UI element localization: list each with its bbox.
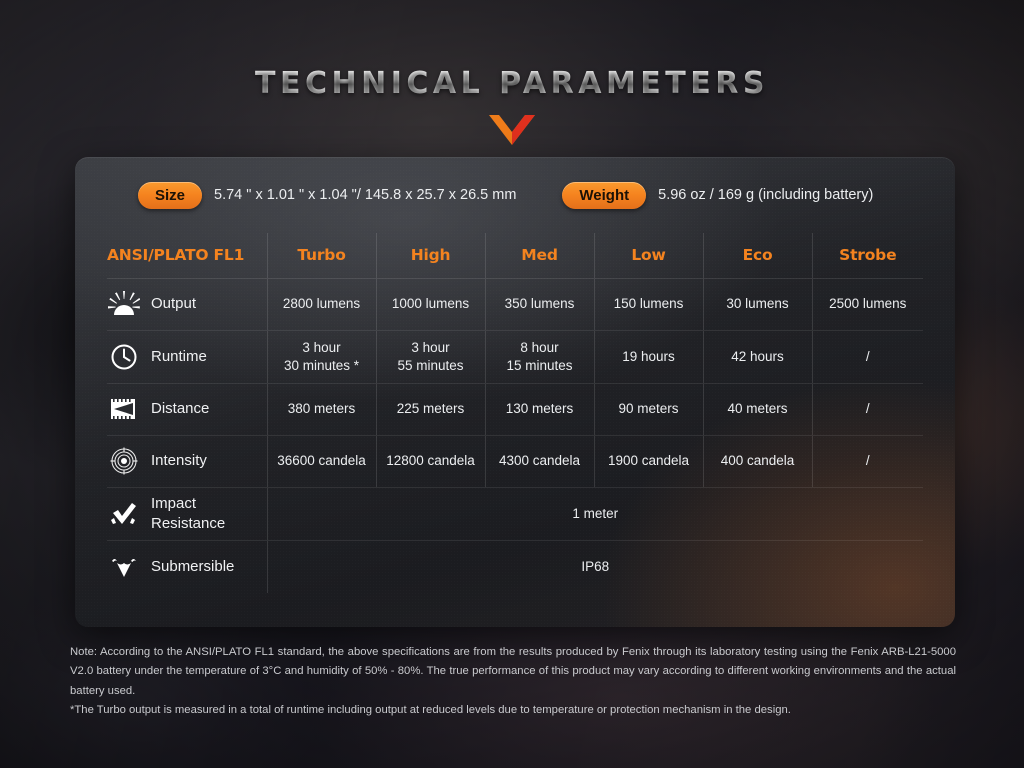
column-header-turbo: Turbo — [267, 233, 376, 278]
row-label: Distance — [151, 399, 209, 419]
cell-runtime-med: 8 hour 15 minutes — [485, 330, 594, 383]
cell-runtime-turbo: 3 hour 30 minutes * — [267, 330, 376, 383]
row-label-cell: Submersible — [107, 540, 267, 593]
runtime-line1: 8 hour — [486, 339, 594, 357]
size-group: Size 5.74 " x 1.01 " x 1.04 "/ 145.8 x 2… — [138, 182, 516, 209]
table-row-submersible: Submersible IP68 — [107, 540, 923, 593]
cell-runtime-low: 19 hours — [594, 330, 703, 383]
cell-runtime-strobe: / — [812, 330, 923, 383]
row-label-cell: Impact Resistance — [107, 487, 267, 540]
table-row-runtime: Runtime 3 hour 30 minutes * 3 hour 55 mi… — [107, 330, 923, 383]
row-label: Output — [151, 294, 196, 314]
cell-distance-low: 90 meters — [594, 383, 703, 435]
cell-distance-med: 130 meters — [485, 383, 594, 435]
cell-intensity-strobe: / — [812, 435, 923, 487]
cell-intensity-high: 12800 candela — [376, 435, 485, 487]
table-row-output: Output 2800 lumens 1000 lumens 350 lumen… — [107, 278, 923, 330]
row-label: Impact Resistance — [151, 494, 267, 534]
cell-output-low: 150 lumens — [594, 278, 703, 330]
row-label-cell: Runtime — [107, 330, 267, 383]
cell-distance-high: 225 meters — [376, 383, 485, 435]
cell-output-med: 350 lumens — [485, 278, 594, 330]
footnote: Note: According to the ANSI/PLATO FL1 st… — [70, 643, 956, 721]
cell-runtime-high: 3 hour 55 minutes — [376, 330, 485, 383]
cell-output-turbo: 2800 lumens — [267, 278, 376, 330]
cell-distance-eco: 40 meters — [703, 383, 812, 435]
clock-icon — [107, 343, 141, 371]
cell-intensity-med: 4300 candela — [485, 435, 594, 487]
specifications-table: ANSI/PLATO FL1 Turbo High Med Low Eco St… — [107, 233, 923, 593]
size-value: 5.74 " x 1.01 " x 1.04 "/ 145.8 x 25.7 x… — [214, 187, 516, 203]
title-block: TECHNICAL PARAMETERS — [0, 66, 1024, 145]
cell-distance-turbo: 380 meters — [267, 383, 376, 435]
impact-check-icon — [107, 500, 141, 528]
table-row-distance: Distance 380 meters 225 meters 130 meter… — [107, 383, 923, 435]
cell-intensity-eco: 400 candela — [703, 435, 812, 487]
cell-distance-strobe: / — [812, 383, 923, 435]
row-label: Runtime — [151, 347, 207, 367]
cell-impact-resistance-value: 1 meter — [267, 487, 923, 540]
water-drop-icon — [107, 553, 141, 581]
row-label: Submersible — [151, 557, 234, 577]
cell-output-strobe: 2500 lumens — [812, 278, 923, 330]
weight-group: Weight 5.96 oz / 169 g (including batter… — [562, 182, 873, 209]
column-header-low: Low — [594, 233, 703, 278]
chevron-down-icon — [0, 115, 1024, 145]
column-header-standard: ANSI/PLATO FL1 — [107, 233, 267, 278]
size-badge: Size — [138, 182, 202, 209]
table-row-intensity: Intensity 36600 candela 12800 candela 43… — [107, 435, 923, 487]
column-header-high: High — [376, 233, 485, 278]
runtime-line2: 15 minutes — [486, 357, 594, 375]
column-header-med: Med — [485, 233, 594, 278]
weight-value: 5.96 oz / 169 g (including battery) — [658, 187, 873, 203]
footnote-line-1: Note: According to the ANSI/PLATO FL1 st… — [70, 643, 956, 701]
target-icon — [107, 447, 141, 475]
runtime-line1: 3 hour — [268, 339, 376, 357]
runtime-line1: 3 hour — [377, 339, 485, 357]
weight-badge: Weight — [562, 182, 646, 209]
column-header-strobe: Strobe — [812, 233, 923, 278]
table-row-impact-resistance: Impact Resistance 1 meter — [107, 487, 923, 540]
ruler-beam-icon — [107, 395, 141, 423]
spec-panel: Size 5.74 " x 1.01 " x 1.04 "/ 145.8 x 2… — [75, 157, 955, 627]
summary-row: Size 5.74 " x 1.01 " x 1.04 "/ 145.8 x 2… — [75, 157, 955, 233]
page-title: TECHNICAL PARAMETERS — [255, 66, 769, 101]
row-label: Intensity — [151, 451, 207, 471]
table-header-row: ANSI/PLATO FL1 Turbo High Med Low Eco St… — [107, 233, 923, 278]
row-label-cell: Intensity — [107, 435, 267, 487]
row-label-cell: Output — [107, 278, 267, 330]
footnote-line-2: *The Turbo output is measured in a total… — [70, 701, 956, 720]
sunburst-icon — [107, 290, 141, 318]
runtime-line2: 55 minutes — [377, 357, 485, 375]
cell-runtime-eco: 42 hours — [703, 330, 812, 383]
row-label-cell: Distance — [107, 383, 267, 435]
cell-intensity-low: 1900 candela — [594, 435, 703, 487]
cell-output-eco: 30 lumens — [703, 278, 812, 330]
runtime-line2: 30 minutes * — [268, 357, 376, 375]
cell-submersible-value: IP68 — [267, 540, 923, 593]
cell-intensity-turbo: 36600 candela — [267, 435, 376, 487]
column-header-eco: Eco — [703, 233, 812, 278]
cell-output-high: 1000 lumens — [376, 278, 485, 330]
